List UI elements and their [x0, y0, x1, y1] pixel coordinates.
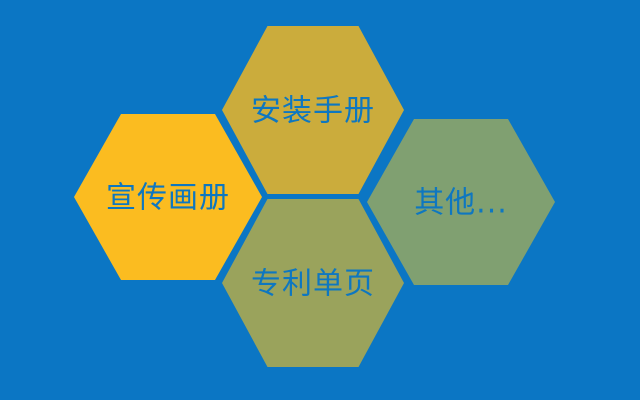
- infographic-canvas: 宣传画册 安装手册 专利单页 其他...: [0, 0, 640, 400]
- hexagon-cluster-diagram: 宣传画册 安装手册 专利单页 其他...: [0, 0, 640, 400]
- hexagon-label-patent-flyer: 专利单页: [251, 267, 375, 302]
- hexagon-label-others: 其他...: [414, 186, 508, 221]
- hexagon-label-brochure: 宣传画册: [106, 181, 230, 216]
- hexagon-label-install-manual: 安装手册: [251, 94, 375, 129]
